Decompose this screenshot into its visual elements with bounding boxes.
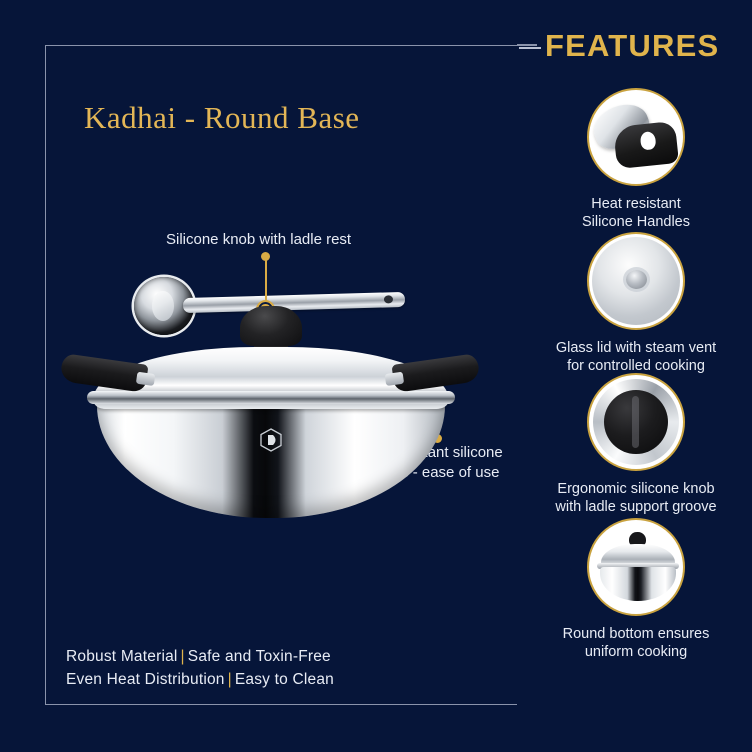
features-rule-icon: [519, 47, 541, 49]
brand-badge-icon: [260, 428, 282, 452]
feature-item-round-bottom: Round bottom ensures uniform cooking: [528, 518, 744, 661]
feature-3-line2: with ladle support groove: [528, 498, 744, 516]
benefit-row-1: Robust Material|Safe and Toxin-Free: [66, 645, 334, 668]
feature-4-line1: Round bottom ensures: [528, 625, 744, 643]
product-illustration: [55, 255, 485, 490]
benefit-row-2: Even Heat Distribution|Easy to Clean: [66, 668, 334, 691]
silicone-handle-icon: [587, 88, 685, 186]
right-silicone-handle-icon: [391, 353, 480, 393]
knob-callout-label: Silicone knob with ladle rest: [166, 231, 351, 248]
feature-1-line1: Heat resistant: [528, 195, 744, 213]
benefit-2-part1: Even Heat Distribution: [66, 671, 225, 688]
infographic-canvas: FEATURES Kadhai - Round Base Silicone kn…: [0, 0, 752, 752]
frame-top-extension: [517, 44, 537, 46]
round-bottom-kadhai-icon: [587, 518, 685, 616]
silicone-knob-icon: [587, 373, 685, 471]
features-heading: FEATURES: [545, 28, 719, 64]
glass-lid-steam-vent-icon: [626, 270, 647, 289]
benefit-1-part1: Robust Material: [66, 648, 178, 665]
benefit-1-separator: |: [178, 648, 188, 665]
feature-4-line2: uniform cooking: [528, 643, 744, 661]
feature-item-glass-lid: Glass lid with steam vent for controlled…: [528, 232, 744, 375]
kadhai-lid-rim-icon: [87, 391, 455, 404]
feature-item-ergonomic-knob: Ergonomic silicone knob with ladle suppo…: [528, 373, 744, 516]
left-silicone-handle-icon: [59, 353, 148, 393]
lid-knob-icon: [240, 306, 302, 346]
kadhai-icon-bowl: [600, 567, 676, 601]
knob-callout-line-icon: [265, 260, 267, 304]
feature-caption-2: Glass lid with steam vent for controlled…: [528, 339, 744, 375]
benefit-2-separator: |: [225, 671, 235, 688]
benefit-2-part2: Easy to Clean: [235, 671, 334, 688]
ladle-handle-icon: [183, 292, 405, 313]
feature-1-line2: Silicone Handles: [528, 213, 744, 231]
feature-caption-1: Heat resistant Silicone Handles: [528, 195, 744, 231]
feature-caption-3: Ergonomic silicone knob with ladle suppo…: [528, 480, 744, 516]
feature-2-line1: Glass lid with steam vent: [528, 339, 744, 357]
feature-3-line1: Ergonomic silicone knob: [528, 480, 744, 498]
feature-item-heat-resistant-handles: Heat resistant Silicone Handles: [528, 88, 744, 231]
glass-lid-top-icon: [587, 232, 685, 330]
feature-caption-4: Round bottom ensures uniform cooking: [528, 625, 744, 661]
knob-core-icon: [604, 390, 668, 454]
page-title: Kadhai - Round Base: [84, 100, 360, 136]
benefits-list: Robust Material|Safe and Toxin-Free Even…: [66, 645, 334, 691]
benefit-1-part2: Safe and Toxin-Free: [188, 648, 331, 665]
